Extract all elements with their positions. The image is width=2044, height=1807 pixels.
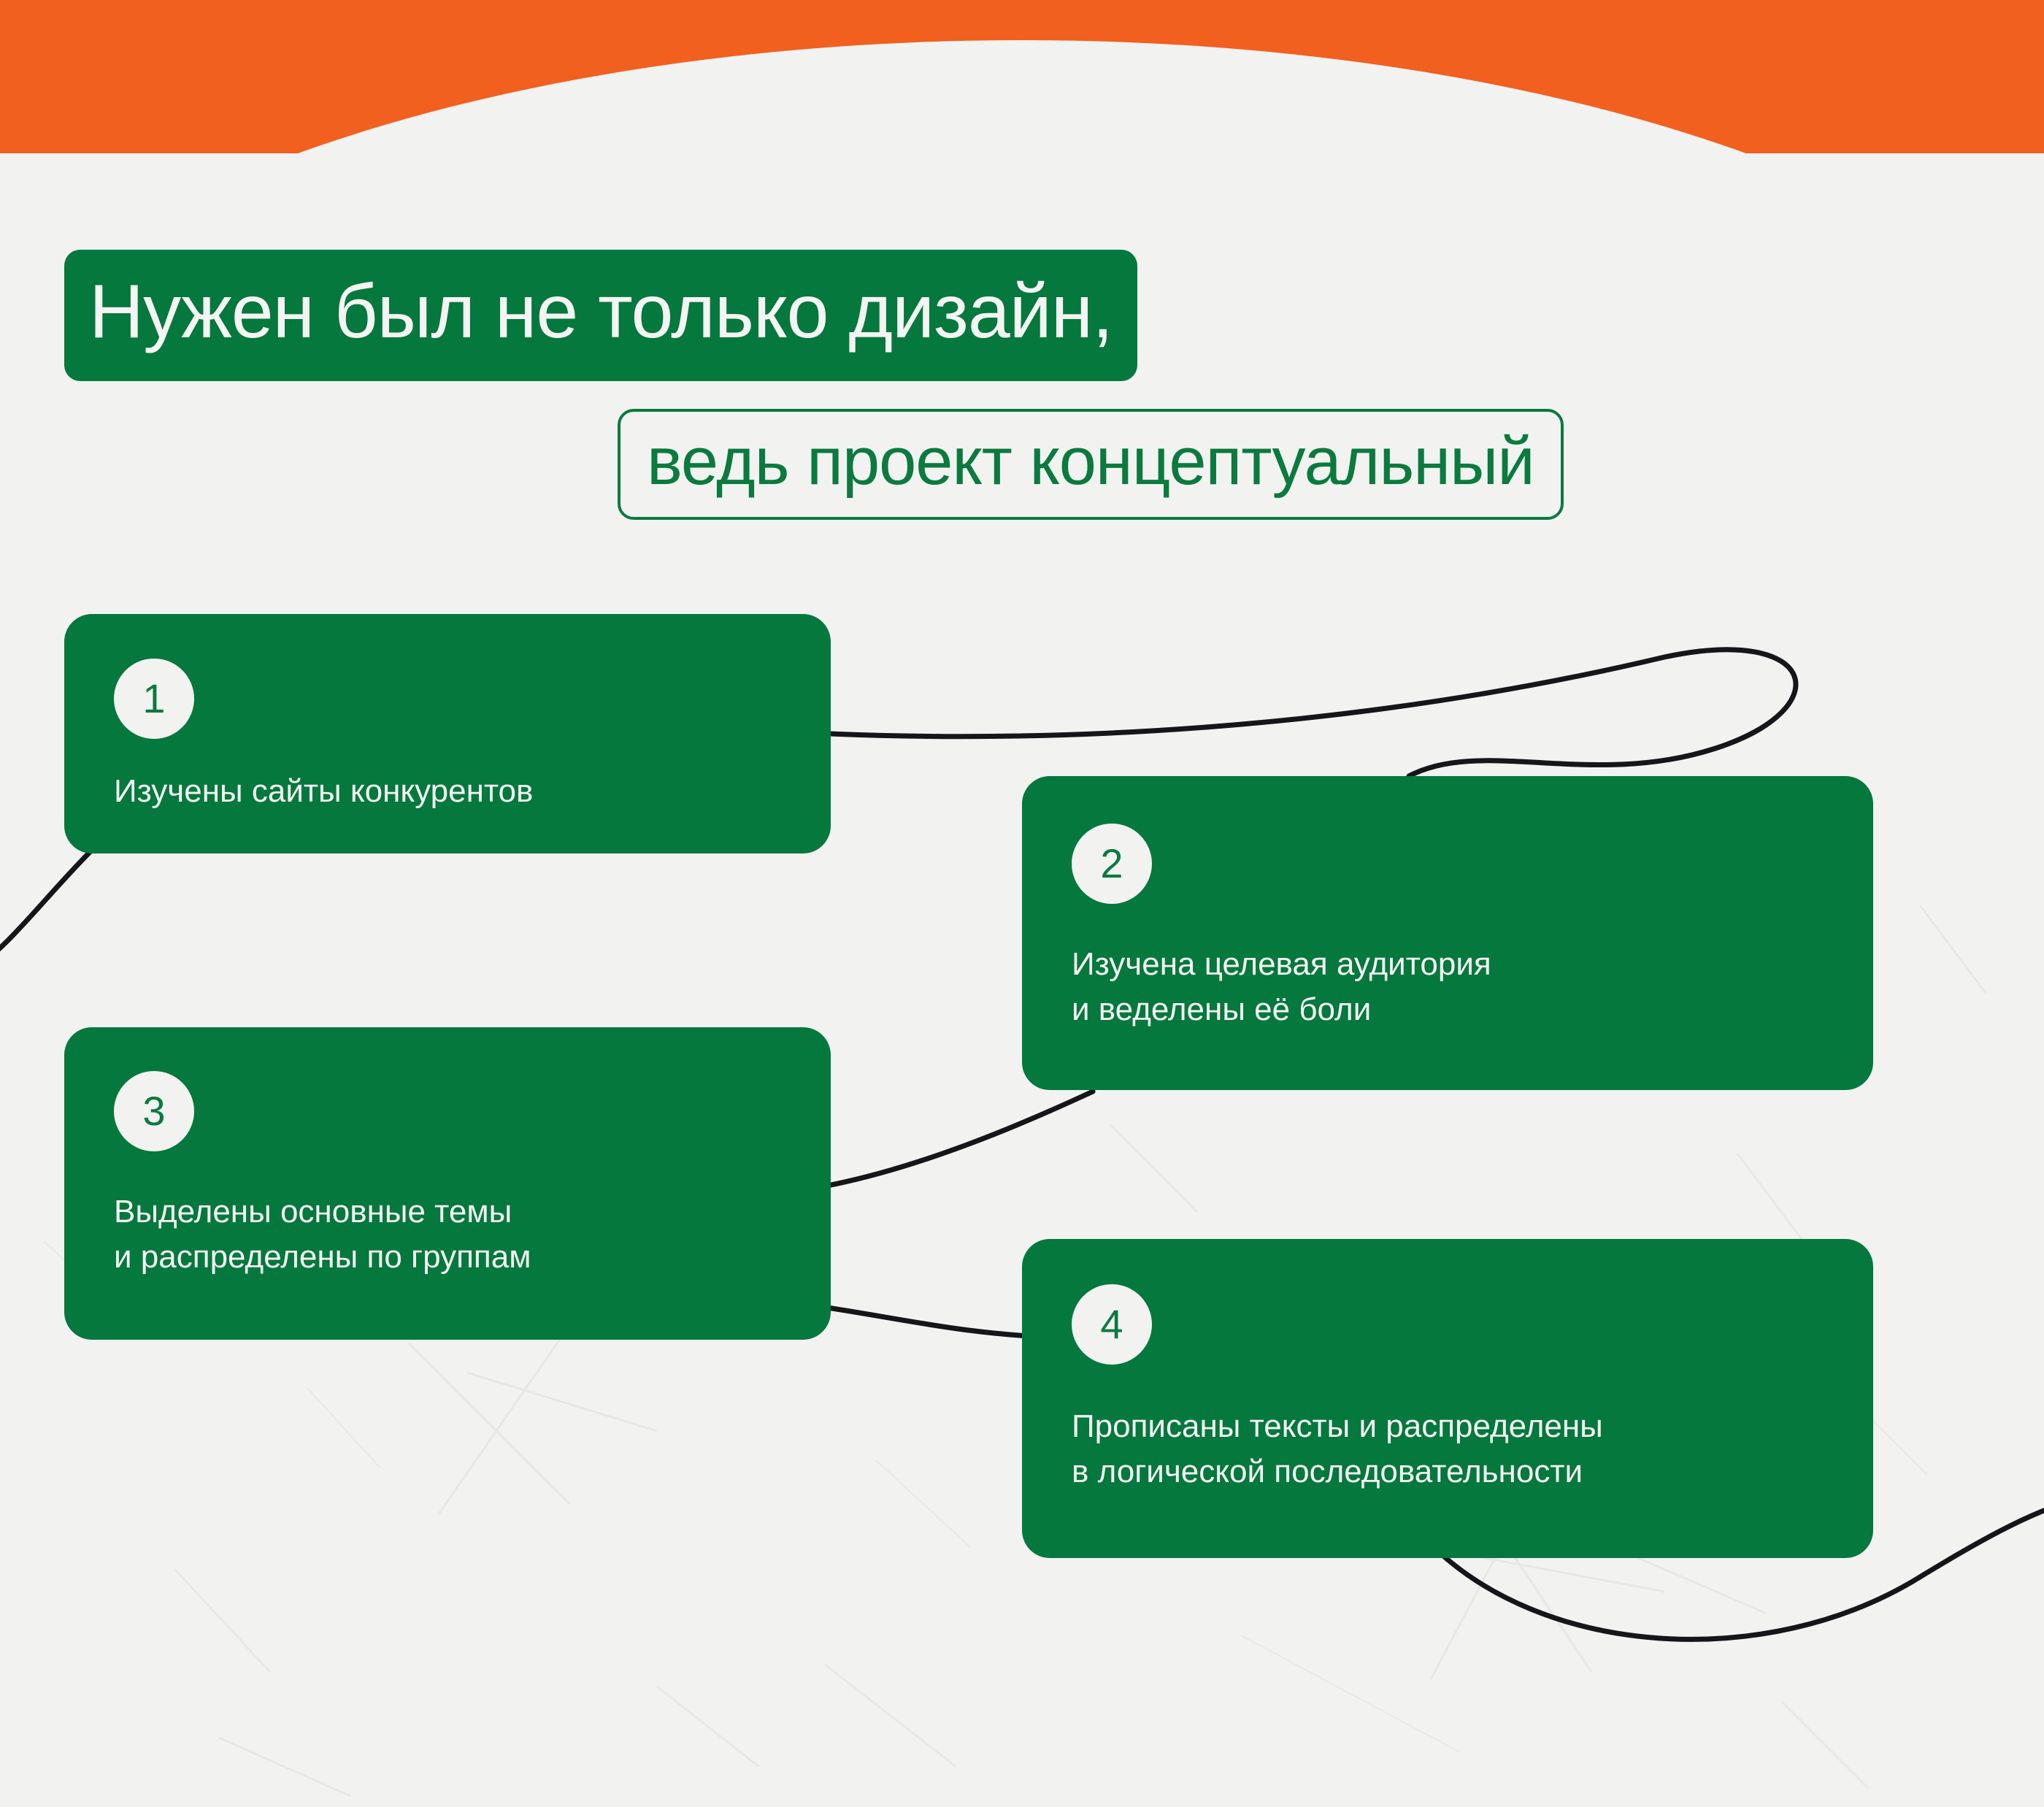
step-number-2: 2 <box>1100 843 1123 884</box>
step-card-3[interactable]: 3 Выделены основные темы и распределены … <box>64 1027 831 1340</box>
band-arch-cutout <box>0 40 2044 153</box>
connector-in-left <box>0 847 95 971</box>
step-number-badge-1: 1 <box>114 659 194 739</box>
headline-line-2: ведь проект концептуальный <box>647 428 1534 495</box>
infographic-slide: Нужен был не только дизайн, ведь проект … <box>0 0 2044 1807</box>
headline-pill-primary: Нужен был не только дизайн, <box>64 250 1137 381</box>
step-card-1[interactable]: 1 Изучены сайты конкурентов <box>64 614 831 853</box>
step-description-1: Изучены сайты конкурентов <box>114 769 533 814</box>
step-number-badge-3: 3 <box>114 1071 194 1151</box>
step-number-1: 1 <box>142 678 165 719</box>
headline-line-1: Нужен был не только дизайн, <box>89 274 1113 350</box>
step-description-2: Изучена целевая аудитория и веделены её … <box>1072 942 1491 1033</box>
headline-pill-secondary: ведь проект концептуальный <box>618 409 1564 520</box>
step-number-badge-4: 4 <box>1072 1284 1152 1365</box>
step-number-badge-2: 2 <box>1072 824 1152 904</box>
step-card-4[interactable]: 4 Прописаны тексты и распределены в логи… <box>1022 1239 1873 1558</box>
connector-1-to-2 <box>831 650 1796 776</box>
step-card-2[interactable]: 2 Изучена целевая аудитория и веделены е… <box>1022 776 1873 1090</box>
step-description-4: Прописаны тексты и распределены в логиче… <box>1072 1404 1603 1495</box>
orange-top-band <box>0 0 2044 153</box>
step-description-3: Выделены основные темы и распределены по… <box>114 1189 531 1281</box>
step-number-4: 4 <box>1100 1304 1123 1345</box>
step-number-3: 3 <box>142 1091 165 1132</box>
connector-2-to-3 <box>823 1092 1093 1186</box>
